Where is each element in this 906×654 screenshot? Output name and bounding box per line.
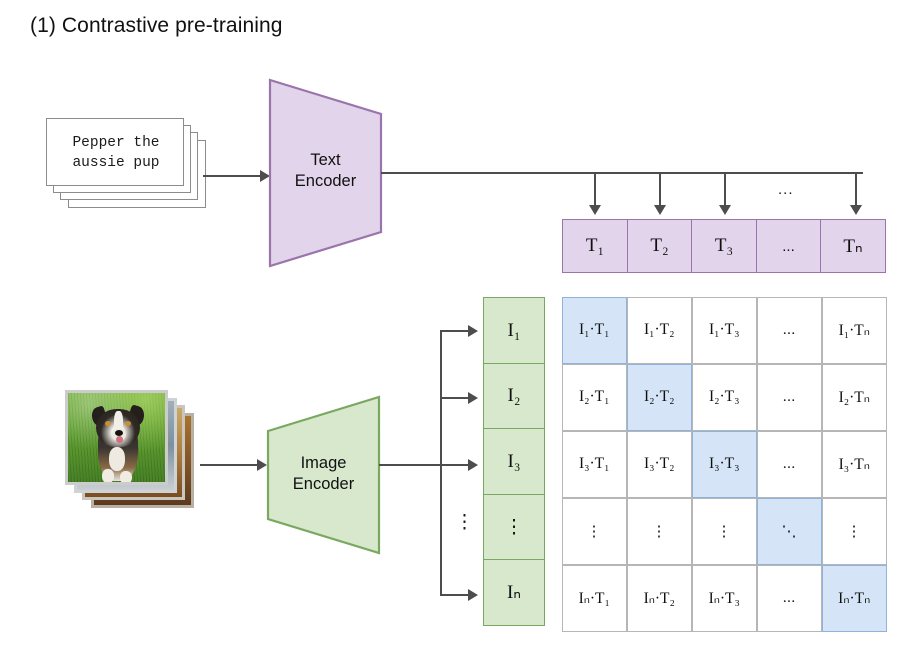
text-encoder-label-line-2: Encoder bbox=[268, 171, 383, 192]
similarity-cell-r1-c1: I₁·T₁ bbox=[562, 297, 628, 365]
similarity-cell-r5-c3: Iₙ·T₃ bbox=[692, 565, 758, 633]
puppy-chest bbox=[109, 447, 125, 471]
similarity-matrix: I₁·T₁I₁·T₂I₁·T₃...I₁·TₙI₂·T₁I₂·T₂I₂·T₃..… bbox=[562, 297, 887, 632]
text-embedding-cell-ellipsis: ... bbox=[756, 219, 822, 273]
puppy-tongue bbox=[116, 436, 123, 443]
image-to-image-encoder-line bbox=[200, 464, 262, 466]
text-drop-arrowhead-3 bbox=[719, 205, 731, 215]
text-drop-ellipsis: ... bbox=[778, 181, 794, 198]
puppy-paw-left bbox=[102, 469, 114, 483]
text-drop-arrowhead-2 bbox=[654, 205, 666, 215]
text-embedding-bus-line bbox=[381, 172, 863, 174]
similarity-cell-r3-c4: ... bbox=[757, 431, 823, 499]
clip-contrastive-pretraining-diagram: (1) Contrastive pre-training Pepper the … bbox=[0, 0, 906, 654]
image-embedding-cell-n[interactable]: Iₙ bbox=[483, 559, 545, 626]
text-encoder-label-line-1: Text bbox=[268, 150, 383, 171]
similarity-cell-r4-c4: ⋱ bbox=[757, 498, 823, 566]
image-embeddings-column: I₁ I₂ I₃ ⋮ Iₙ bbox=[483, 297, 545, 626]
image-embedding-spine-line bbox=[440, 330, 442, 594]
caption-line-2: aussie pup bbox=[72, 153, 159, 173]
similarity-cell-r2-c4: ... bbox=[757, 364, 823, 432]
similarity-cell-r4-c1: ⋮ bbox=[562, 498, 628, 566]
image-embedding-cell-2[interactable]: I₂ bbox=[483, 363, 545, 430]
image-embedding-cell-3[interactable]: I₃ bbox=[483, 428, 545, 495]
text-embedding-cell-n[interactable]: Tₙ bbox=[820, 219, 886, 273]
similarity-cell-r2-c5: I₂·Tₙ bbox=[822, 364, 888, 432]
puppy-paw-right bbox=[120, 471, 132, 484]
similarity-cell-r1-c4: ... bbox=[757, 297, 823, 365]
image-embedding-cell-ellipsis: ⋮ bbox=[483, 494, 545, 561]
text-embeddings-row: T₁ T₂ T₃ ... Tₙ bbox=[562, 219, 886, 273]
image-thumb-front-puppy bbox=[65, 390, 168, 485]
text-encoder-block[interactable]: Text Encoder bbox=[268, 78, 383, 268]
similarity-cell-r1-c3: I₁·T₃ bbox=[692, 297, 758, 365]
text-drop-arrowhead-n bbox=[850, 205, 862, 215]
image-branch-arrowhead-n bbox=[468, 589, 478, 601]
similarity-cell-r4-c3: ⋮ bbox=[692, 498, 758, 566]
image-embedding-bus-line bbox=[379, 464, 441, 466]
similarity-cell-r2-c3: I₂·T₃ bbox=[692, 364, 758, 432]
similarity-cell-r3-c5: I₃·Tₙ bbox=[822, 431, 888, 499]
similarity-cell-r3-c2: I₃·T₂ bbox=[627, 431, 693, 499]
image-embedding-cell-1[interactable]: I₁ bbox=[483, 297, 545, 364]
image-branch-arrowhead-2 bbox=[468, 392, 478, 404]
text-caption-card-stack: Pepper the aussie pup bbox=[46, 118, 196, 218]
similarity-cell-r3-c1: I₃·T₁ bbox=[562, 431, 628, 499]
puppy-eye-right bbox=[125, 421, 131, 426]
image-encoder-label-line-2: Encoder bbox=[266, 474, 381, 495]
similarity-cell-r5-c1: Iₙ·T₁ bbox=[562, 565, 628, 633]
puppy-eye-left bbox=[105, 421, 111, 426]
image-branch-ellipsis: ⋮ bbox=[455, 513, 474, 532]
similarity-cell-r5-c4: ... bbox=[757, 565, 823, 633]
similarity-cell-r1-c5: I₁·Tₙ bbox=[822, 297, 888, 365]
caption-line-1: Pepper the bbox=[72, 133, 159, 153]
text-drop-arrowhead-1 bbox=[589, 205, 601, 215]
similarity-cell-r2-c2: I₂·T₂ bbox=[627, 364, 693, 432]
text-embedding-cell-3[interactable]: T₃ bbox=[691, 219, 757, 273]
caption-card-front: Pepper the aussie pup bbox=[46, 118, 184, 186]
similarity-cell-r5-c5: Iₙ·Tₙ bbox=[822, 565, 888, 633]
similarity-cell-r2-c1: I₂·T₁ bbox=[562, 364, 628, 432]
similarity-cell-r3-c3: I₃·T₃ bbox=[692, 431, 758, 499]
text-embedding-cell-2[interactable]: T₂ bbox=[627, 219, 693, 273]
text-encoder-label: Text Encoder bbox=[268, 150, 383, 192]
image-encoder-label-line-1: Image bbox=[266, 453, 381, 474]
text-embedding-cell-1[interactable]: T₁ bbox=[562, 219, 628, 273]
image-branch-arrowhead-1 bbox=[468, 325, 478, 337]
image-encoder-label: Image Encoder bbox=[266, 453, 381, 495]
image-branch-arrowhead-3 bbox=[468, 459, 478, 471]
page-title: (1) Contrastive pre-training bbox=[30, 14, 283, 38]
image-encoder-block[interactable]: Image Encoder bbox=[266, 395, 381, 555]
similarity-cell-r5-c2: Iₙ·T₂ bbox=[627, 565, 693, 633]
similarity-cell-r1-c2: I₁·T₂ bbox=[627, 297, 693, 365]
similarity-cell-r4-c5: ⋮ bbox=[822, 498, 888, 566]
caption-text: Pepper the aussie pup bbox=[47, 119, 185, 187]
caption-to-text-encoder-line bbox=[203, 175, 265, 177]
similarity-cell-r4-c2: ⋮ bbox=[627, 498, 693, 566]
image-thumbnail-stack bbox=[65, 390, 195, 510]
